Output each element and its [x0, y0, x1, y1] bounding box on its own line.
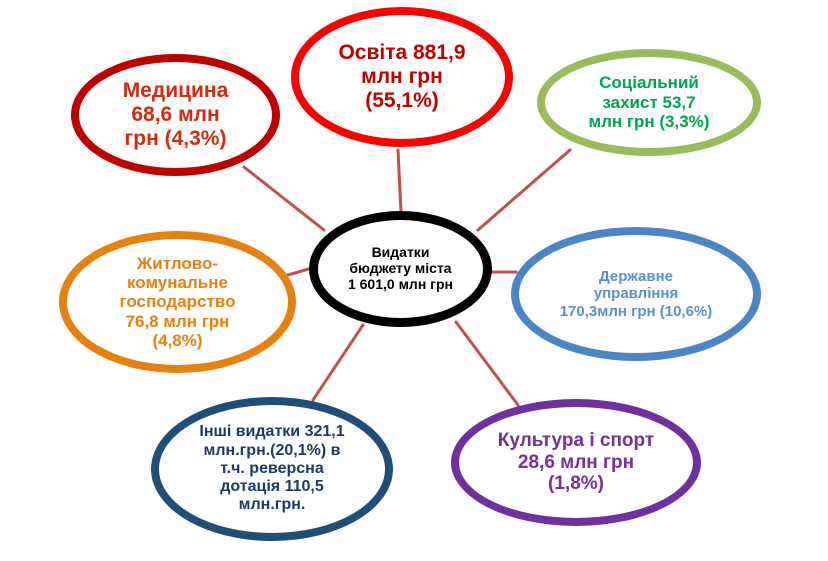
node-social-protection[interactable]: Соціальнийзахист 53,7млн грн (3,3%) — [537, 49, 761, 156]
node-medicine-label: Медицина68,6 млнгрн (4,3%) — [79, 79, 272, 151]
node-culture-sport-label: Культура і спорт28,6 млн грн(1,8%) — [459, 430, 693, 495]
node-other-expenses[interactable]: Інші видатки 321,1млн.грн.(20,1%) вт.ч. … — [151, 397, 393, 541]
node-state-administration-label: Державнеуправління170,3млн грн (10,6%) — [519, 268, 753, 319]
node-education[interactable]: Освіта 881,9млн грн(55,1%) — [291, 7, 513, 147]
node-culture-sport[interactable]: Культура і спорт28,6 млн грн(1,8%) — [451, 399, 701, 526]
node-housing-utilities[interactable]: Житлово-комунальнегосподарство76,8 млн г… — [59, 231, 296, 373]
node-housing-utilities-label: Житлово-комунальнегосподарство76,8 млн г… — [67, 254, 288, 351]
connector-center-to-social-protection — [478, 150, 570, 230]
node-other-expenses-label: Інші видатки 321,1млн.грн.(20,1%) вт.ч. … — [159, 423, 385, 514]
node-education-label: Освіта 881,9млн грн(55,1%) — [299, 41, 505, 113]
connector-center-to-medicine — [244, 167, 324, 230]
budget-diagram: Видаткибюджету міста1 601,0 млн грнОсвіт… — [0, 0, 828, 561]
center-node[interactable]: Видаткибюджету міста1 601,0 млн грн — [309, 211, 492, 327]
connector-center-to-other-expenses — [313, 325, 363, 400]
connector-center-to-culture-sport — [456, 322, 518, 405]
center-node-label: Видаткибюджету міста1 601,0 млн грн — [318, 245, 483, 293]
connector-center-to-education — [398, 150, 401, 212]
node-social-protection-label: Соціальнийзахист 53,7млн грн (3,3%) — [545, 73, 753, 131]
node-state-administration[interactable]: Державнеуправління170,3млн грн (10,6%) — [511, 227, 761, 361]
node-medicine[interactable]: Медицина68,6 млнгрн (4,3%) — [71, 54, 280, 176]
